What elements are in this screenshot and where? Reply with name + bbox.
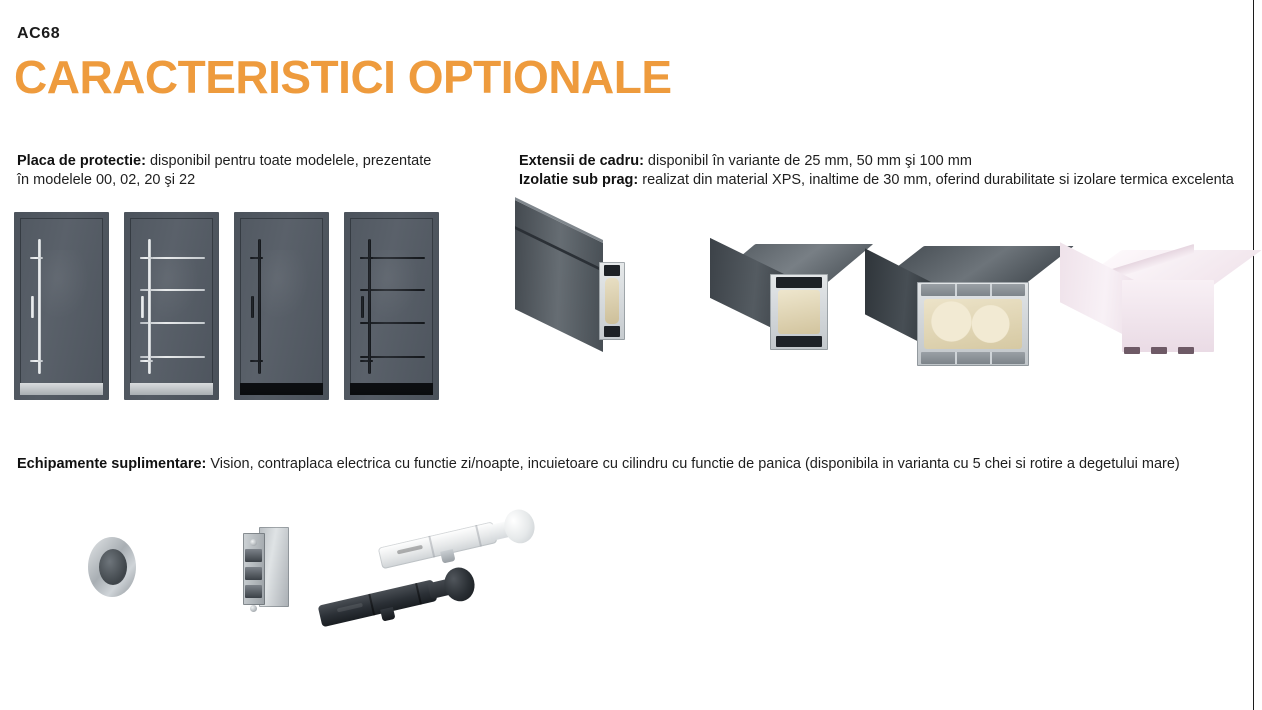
hardware-figure <box>80 515 600 645</box>
additional-equipment-text: Echipamente suplimentare: Vision, contra… <box>17 455 1187 474</box>
door-handle-stub-bottom <box>250 360 263 362</box>
page: AC68 CARACTERISTICI OPTIONALE Placa de p… <box>0 0 1262 710</box>
frame-extension-text: Extensii de cadru: disponibil în variant… <box>519 152 1249 171</box>
door-inlay <box>140 289 205 291</box>
door-handle-stub-bottom <box>30 360 43 362</box>
door-lock-slot <box>141 296 144 318</box>
threshold-insulation-label: Izolatie sub prag: <box>519 172 638 188</box>
door-inlay <box>360 257 425 259</box>
door-handle-stub-bottom <box>140 360 153 362</box>
electric-strike-plate <box>243 523 291 611</box>
door-kick-plate <box>240 383 323 395</box>
product-code: AC68 <box>17 25 60 43</box>
threshold-insulation-text: Izolatie sub prag: realizat din material… <box>519 171 1249 190</box>
door-handle-bar <box>258 239 261 374</box>
xps-notch <box>1124 347 1140 354</box>
strike-jaw <box>245 567 262 580</box>
door-handle-bar <box>368 239 371 374</box>
xps-notch <box>1151 347 1167 354</box>
frame-extension-25mm <box>515 240 625 360</box>
door-leaf <box>20 218 103 395</box>
cylinder-lock-white <box>376 505 544 575</box>
strike-screw <box>250 605 257 612</box>
protection-plate-label: Placa de protectie: <box>17 153 146 169</box>
profile-insulation-foam <box>605 278 619 324</box>
door-inlay <box>140 257 205 259</box>
profile-chamber-top <box>776 277 822 288</box>
strike-jaw <box>245 549 262 562</box>
viewer-lens <box>99 549 127 585</box>
door-viewer-vision <box>88 537 136 597</box>
door-kick-plate <box>20 383 103 395</box>
frame-extension-100mm <box>865 246 1040 376</box>
door-lock-slot <box>31 296 34 318</box>
door-handle-bar <box>38 239 41 374</box>
profile-chamber-top <box>604 265 620 276</box>
door-model-00 <box>14 212 109 400</box>
door-lock-slot <box>251 296 254 318</box>
profile-cut-face <box>917 282 1029 366</box>
profile-body <box>515 197 603 352</box>
door-handle-stub-top <box>360 257 373 259</box>
profile-cut-face <box>770 274 828 350</box>
door-handle-stub-top <box>30 257 43 259</box>
cylinder-thumbturn-knob <box>501 506 538 546</box>
door-leaf <box>240 218 323 395</box>
cylinder-lock-black <box>316 563 484 633</box>
profile-chamber-top <box>921 284 1025 296</box>
profile-chamber-bottom <box>604 326 620 337</box>
additional-equipment-label: Echipamente suplimentare: <box>17 456 206 472</box>
door-model-22 <box>344 212 439 400</box>
profile-chamber-bottom <box>776 336 822 347</box>
door-models-figure <box>14 212 454 400</box>
door-inlay <box>360 289 425 291</box>
additional-equipment-body: Vision, contraplaca electrica cu functie… <box>206 456 1179 472</box>
frame-extension-50mm <box>710 244 845 362</box>
door-kick-plate <box>130 383 213 395</box>
cylinder-cam <box>380 607 395 622</box>
door-leaf <box>130 218 213 395</box>
door-handle-bar <box>148 239 151 374</box>
door-leaf <box>350 218 433 395</box>
cylinder-thumbturn-knob <box>441 564 478 604</box>
strike-faceplate <box>243 533 265 605</box>
profile-insulation-foam <box>924 299 1022 349</box>
door-model-20 <box>234 212 329 400</box>
cylinder-cam <box>440 549 455 564</box>
protection-plate-text: Placa de protectie: disponibil pentru to… <box>17 152 447 190</box>
strike-screw <box>250 539 257 546</box>
frame-extension-label: Extensii de cadru: <box>519 153 644 169</box>
xps-front-face <box>1122 280 1214 352</box>
door-handle-stub-top <box>250 257 263 259</box>
xps-notch <box>1178 347 1194 354</box>
profile-cut-face <box>599 262 625 340</box>
profile-insulation-foam <box>778 290 820 334</box>
door-handle-stub-top <box>140 257 153 259</box>
door-kick-plate <box>350 383 433 395</box>
door-lock-slot <box>361 296 364 318</box>
xps-notches <box>1124 347 1212 354</box>
door-model-02 <box>124 212 219 400</box>
frame-extension-body: disponibil în variante de 25 mm, 50 mm ş… <box>644 153 972 169</box>
frame-extension-text-block: Extensii de cadru: disponibil în variant… <box>519 152 1249 190</box>
door-handle-stub-bottom <box>360 360 373 362</box>
strike-jaw <box>245 585 262 598</box>
threshold-insulation-body: realizat din material XPS, inaltime de 3… <box>638 172 1234 188</box>
frame-profiles-figure <box>505 228 1195 388</box>
xps-threshold-insulation <box>1060 250 1225 368</box>
profile-chamber-bottom <box>921 352 1025 364</box>
page-title: CARACTERISTICI OPTIONALE <box>14 52 672 102</box>
page-border-rule <box>1253 0 1254 710</box>
